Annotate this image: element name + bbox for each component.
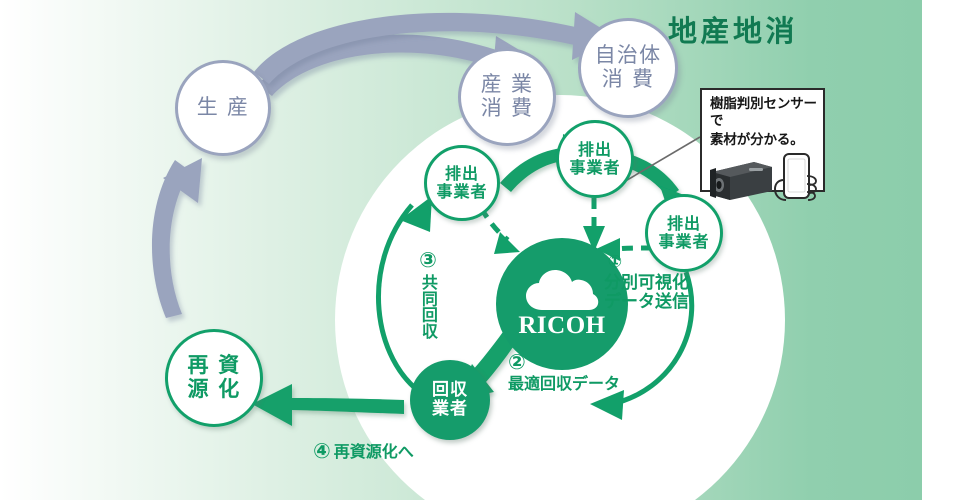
node-industrial-line-1: 消 費 xyxy=(481,97,533,121)
step-3-line-0: 共同回収 xyxy=(419,274,437,339)
step-3-annotation: ③ 共同回収 xyxy=(419,250,437,339)
step-2-line-0: 最適回収データ xyxy=(508,375,620,393)
step-1-line-0: 分別可視化 xyxy=(604,274,689,293)
node-recycling-line-1: 源 化 xyxy=(187,378,240,402)
step-1-number: ① xyxy=(604,252,626,274)
step-4-line-0: 再資源化へ xyxy=(334,443,414,461)
cloud-icon xyxy=(524,269,600,311)
node-emitter-left[interactable]: 排出 事業者 xyxy=(424,145,500,221)
sensor-callout-box[interactable]: 樹脂判別センサーで 素材が分かる。 xyxy=(700,88,825,192)
callout-line-0: 樹脂判別センサーで xyxy=(702,90,823,131)
callout-illustration xyxy=(702,150,825,202)
node-collector[interactable]: 回収 業者 xyxy=(410,360,490,440)
step-4-annotation: ④ 再資源化へ xyxy=(313,440,414,464)
step-1-annotation: ① 分別可視化 データ送信 xyxy=(604,252,689,312)
emitter-right-line-0: 排出 xyxy=(667,215,701,233)
node-recycling-line-0: 再 資 xyxy=(187,354,240,378)
step-2-number: ② xyxy=(508,352,620,373)
node-municipal-line-1: 消 費 xyxy=(602,68,654,92)
node-industrial-consumption[interactable]: 産 業 消 費 xyxy=(458,48,556,146)
node-recycling[interactable]: 再 資 源 化 xyxy=(165,329,263,427)
step-1-line-1: データ送信 xyxy=(604,293,689,312)
ricoh-wordmark: RICOH xyxy=(518,312,605,340)
step-3-number: ③ xyxy=(419,250,437,271)
step-4-number: ④ xyxy=(313,440,331,464)
collector-line-0: 回収 xyxy=(432,381,468,400)
node-emitter-top[interactable]: 排出 事業者 xyxy=(556,120,634,198)
emitter-top-line-0: 排出 xyxy=(578,141,612,159)
node-production-line-0: 生 産 xyxy=(197,96,249,120)
emitter-left-line-0: 排出 xyxy=(445,165,479,183)
diagram-canvas: 生 産 産 業 消 費 自治体 消 費 再 資 源 化 排出 事業者 排出 事業… xyxy=(0,0,955,500)
collector-line-1: 業者 xyxy=(432,400,468,419)
node-production[interactable]: 生 産 xyxy=(175,60,271,156)
resin-sensor-icon xyxy=(710,162,772,200)
step-2-annotation: ② 最適回収データ xyxy=(508,352,620,393)
emitter-right-line-1: 事業者 xyxy=(659,233,710,251)
node-municipal-line-0: 自治体 xyxy=(595,44,662,68)
page-title: 地産地消 xyxy=(668,8,798,50)
callout-line-1: 素材が分かる。 xyxy=(702,131,823,149)
hand-holding-phone-icon xyxy=(775,154,816,200)
node-industrial-line-0: 産 業 xyxy=(481,73,533,97)
emitter-top-line-1: 事業者 xyxy=(570,159,621,177)
node-municipal-consumption[interactable]: 自治体 消 費 xyxy=(578,18,678,118)
emitter-left-line-1: 事業者 xyxy=(437,183,488,201)
